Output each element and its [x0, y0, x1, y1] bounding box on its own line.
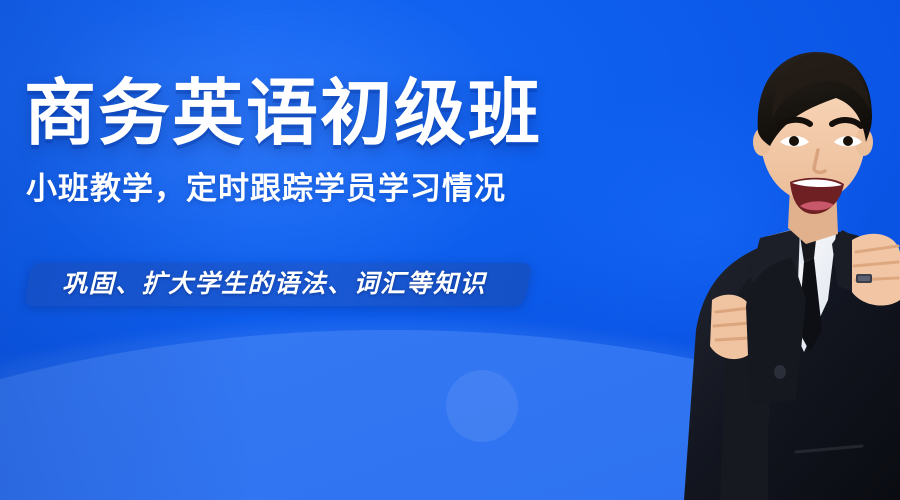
- raised-fist: [852, 234, 900, 306]
- page-title: 商务英语初级班: [24, 78, 624, 150]
- headline-block: 商务英语初级班 小班教学，定时跟踪学员学习情况: [24, 78, 624, 206]
- subtitle: 小班教学，定时跟踪学员学习情况: [26, 172, 624, 206]
- presenter-photo: [600, 0, 900, 500]
- jacket-button: [774, 365, 786, 379]
- tagline-text: 巩固、扩大学生的语法、词汇等知识: [62, 271, 486, 297]
- tagline-ribbon: 巩固、扩大学生的语法、词汇等知识: [28, 263, 528, 306]
- course-promo-banner: 商务英语初级班 小班教学，定时跟踪学员学习情况 巩固、扩大学生的语法、词汇等知识: [0, 0, 900, 500]
- lower-fist: [710, 295, 752, 359]
- lapel-pin: [856, 274, 872, 283]
- head: [753, 52, 873, 214]
- tagline-box: 巩固、扩大学生的语法、词汇等知识: [24, 263, 532, 306]
- decorative-circle: [446, 370, 518, 442]
